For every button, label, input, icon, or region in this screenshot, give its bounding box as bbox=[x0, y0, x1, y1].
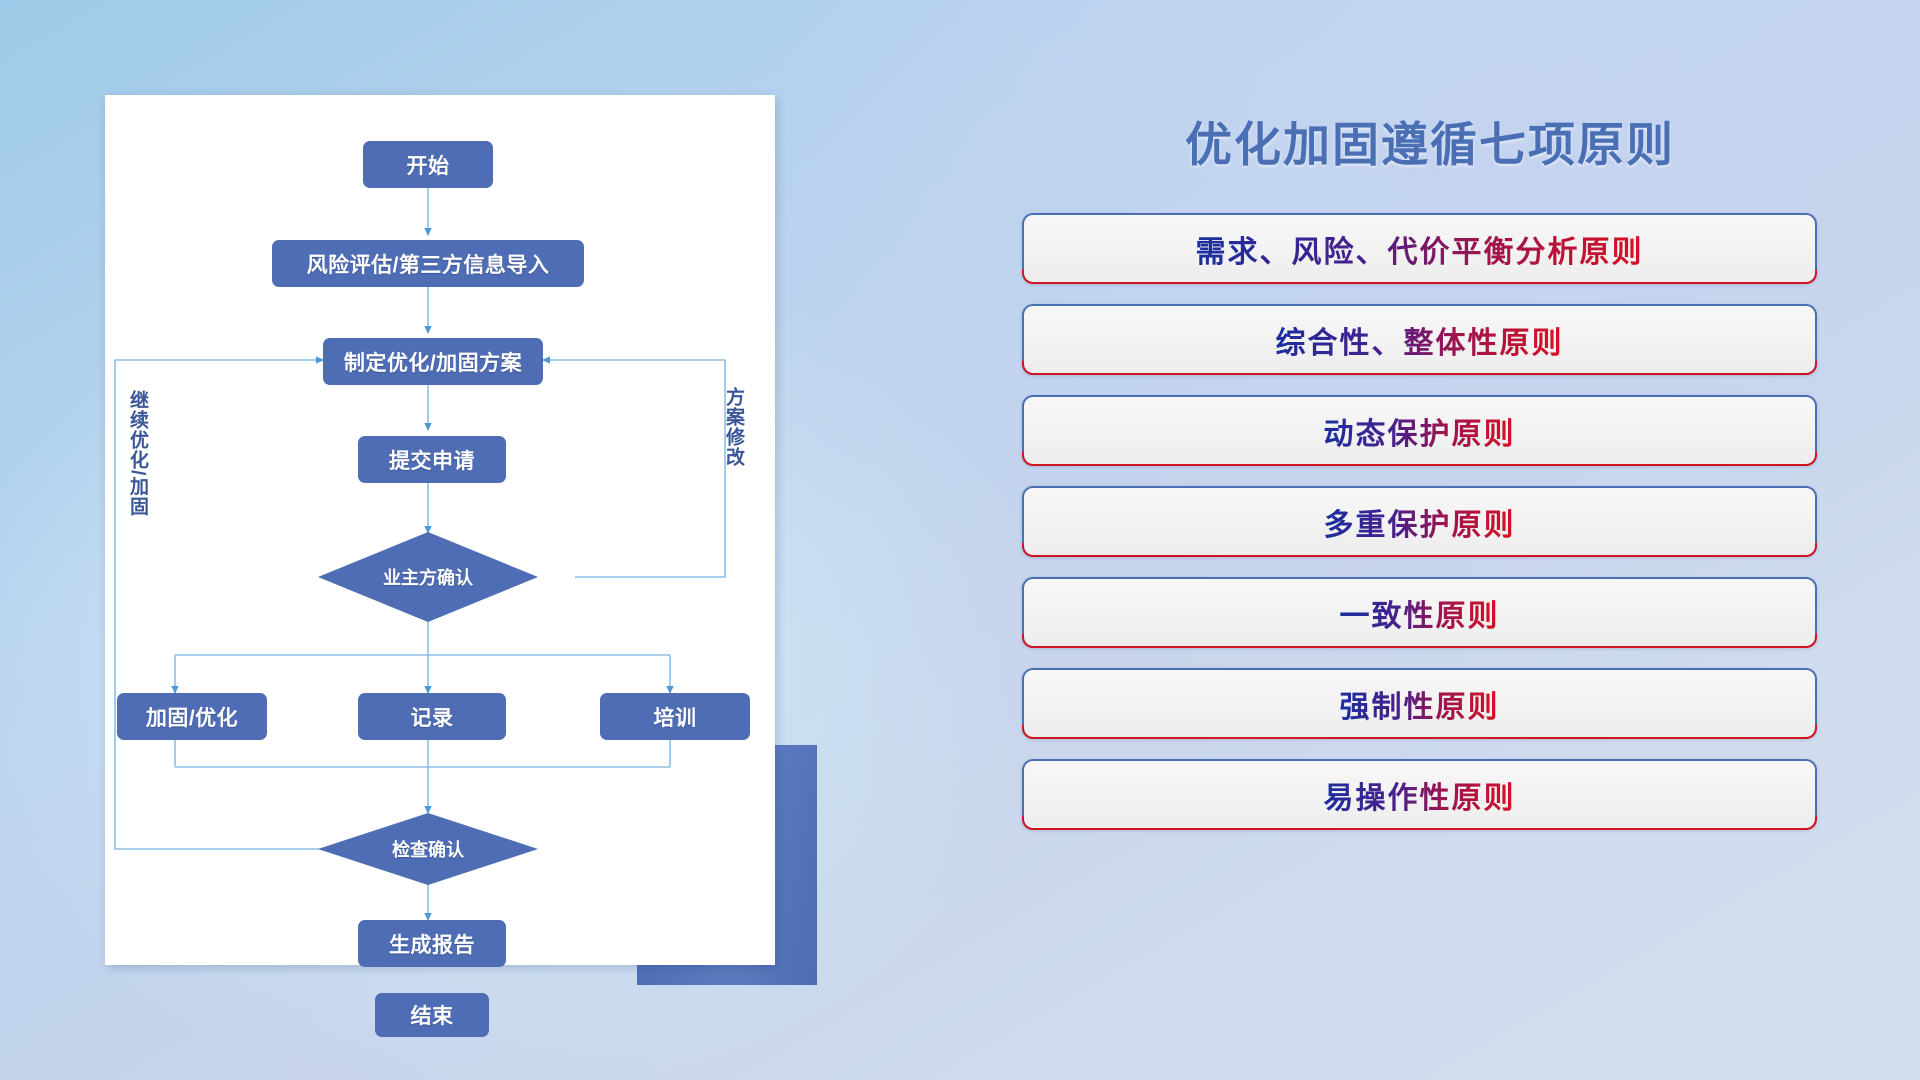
principle-item-label: 易操作性原则 bbox=[1324, 773, 1516, 817]
principle-item[interactable]: 动态保护原则 bbox=[1022, 395, 1817, 466]
flow-edge-label-continue-optimize: 继续优化/加固 bbox=[127, 390, 147, 516]
flow-node-record-label: 记录 bbox=[411, 702, 454, 732]
flow-edge-label-continue-optimize-text: 继续优化/加固 bbox=[127, 390, 148, 516]
principle-item[interactable]: 一致性原则 bbox=[1022, 577, 1817, 648]
flow-node-risk-assessment[interactable]: 风险评估/第三方信息导入 bbox=[272, 240, 584, 287]
flow-node-check-confirm[interactable]: 检查确认 bbox=[318, 813, 538, 885]
flow-node-plan-label: 制定优化/加固方案 bbox=[344, 347, 522, 377]
flow-edge-label-plan-revision: 方案修改 bbox=[723, 387, 743, 467]
principles-panel: 优化加固遵循七项原则 需求、风险、代价平衡分析原则 综合性、整体性原则 动态保护… bbox=[1020, 90, 1840, 1020]
panel-title: 优化加固遵循七项原则 bbox=[1020, 106, 1840, 175]
principle-item[interactable]: 易操作性原则 bbox=[1022, 759, 1817, 830]
flow-node-start[interactable]: 开始 bbox=[363, 141, 493, 188]
principle-item-label: 强制性原则 bbox=[1340, 682, 1500, 726]
flow-node-start-label: 开始 bbox=[407, 150, 450, 180]
flow-node-record[interactable]: 记录 bbox=[358, 693, 506, 740]
flow-node-generate-report[interactable]: 生成报告 bbox=[358, 920, 506, 967]
flow-edge-label-plan-revision-text: 方案修改 bbox=[723, 387, 744, 467]
principle-item[interactable]: 强制性原则 bbox=[1022, 668, 1817, 739]
flow-node-reinforce-optimize[interactable]: 加固/优化 bbox=[117, 693, 267, 740]
flowchart-card: 开始 风险评估/第三方信息导入 制定优化/加固方案 提交申请 业主方确认 加固/… bbox=[105, 95, 775, 965]
slide-canvas: 开始 风险评估/第三方信息导入 制定优化/加固方案 提交申请 业主方确认 加固/… bbox=[0, 0, 1920, 1080]
flow-node-submit-application-label: 提交申请 bbox=[389, 445, 475, 475]
principle-item[interactable]: 需求、风险、代价平衡分析原则 bbox=[1022, 213, 1817, 284]
principle-item-label: 多重保护原则 bbox=[1324, 500, 1516, 544]
flow-node-submit-application[interactable]: 提交申请 bbox=[358, 436, 506, 483]
principle-item-label: 动态保护原则 bbox=[1324, 409, 1516, 453]
principle-item-label: 需求、风险、代价平衡分析原则 bbox=[1196, 227, 1644, 271]
flow-node-owner-confirm[interactable]: 业主方确认 bbox=[318, 532, 538, 622]
principle-item[interactable]: 综合性、整体性原则 bbox=[1022, 304, 1817, 375]
flow-node-generate-report-label: 生成报告 bbox=[389, 929, 475, 959]
principle-item[interactable]: 多重保护原则 bbox=[1022, 486, 1817, 557]
flow-node-risk-assessment-label: 风险评估/第三方信息导入 bbox=[307, 249, 550, 279]
flow-node-plan[interactable]: 制定优化/加固方案 bbox=[323, 338, 543, 385]
flow-node-end-label: 结束 bbox=[411, 1000, 454, 1030]
flow-node-end[interactable]: 结束 bbox=[375, 993, 489, 1037]
principle-item-label: 一致性原则 bbox=[1340, 591, 1500, 635]
principles-list: 需求、风险、代价平衡分析原则 综合性、整体性原则 动态保护原则 多重保护原则 一… bbox=[1022, 213, 1817, 850]
principle-item-label: 综合性、整体性原则 bbox=[1276, 318, 1564, 362]
flow-node-reinforce-optimize-label: 加固/优化 bbox=[146, 702, 238, 732]
flow-node-training-label: 培训 bbox=[654, 702, 697, 732]
flow-node-training[interactable]: 培训 bbox=[600, 693, 750, 740]
